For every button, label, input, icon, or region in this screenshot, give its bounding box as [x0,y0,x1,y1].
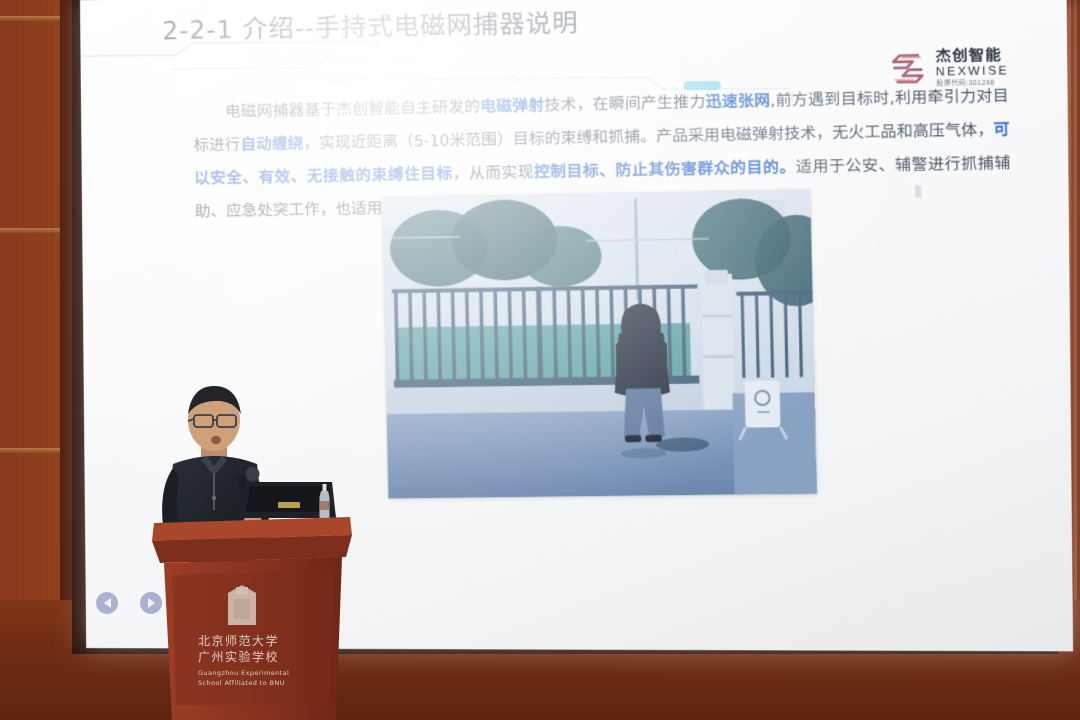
slide-navigation[interactable]: 上一页 下一页 [96,592,162,614]
text-seg-2: 技术，在瞬间产生推力 [544,93,706,114]
next-slide-button[interactable]: 下一页 [140,592,162,614]
podium: 北京师范大学 广州实验学校 Guangzhou Experimental Sch… [150,505,355,720]
podium-emblem-cn-1: 北京师范大学 [198,633,279,648]
podium-emblem-en-2: School Affiliated to BNU [198,679,285,687]
text-highlight-2: 迅速张网 [705,92,770,112]
text-cursor-icon [915,185,925,199]
text-highlight-5: 控制目标、防止其伤害群众的目的。 [534,158,796,181]
logo-name-en: NEXWISE [936,64,1009,78]
text-highlight-3: 自动缠绕 [240,134,303,153]
text-seg-1: 电磁网捕器基于杰创智能自主研发的 [225,97,481,120]
text-seg-5: ，从而实现 [452,163,534,183]
text-highlight-1: 电磁弹射 [480,96,545,115]
presentation-scene: 2-2-1 介绍--手持式电磁网捕器说明 杰创智能 NEXWISE 股票代码:3… [0,0,1080,720]
podium-emblem-en-1: Guangzhou Experimental [198,669,289,677]
podium-emblem-cn-2: 广州实验学校 [198,649,279,664]
demo-scene-illustration [382,189,817,498]
triangle-left-icon [104,598,111,608]
text-seg-4: ，实现近距离（5-10米范围）目标的束缚和抓捕。产品采用电磁弹射技术，无火工品和… [303,121,994,153]
triangle-right-icon [148,598,155,608]
slide-photo [382,189,817,498]
prev-slide-button[interactable]: 上一页 [96,592,118,614]
